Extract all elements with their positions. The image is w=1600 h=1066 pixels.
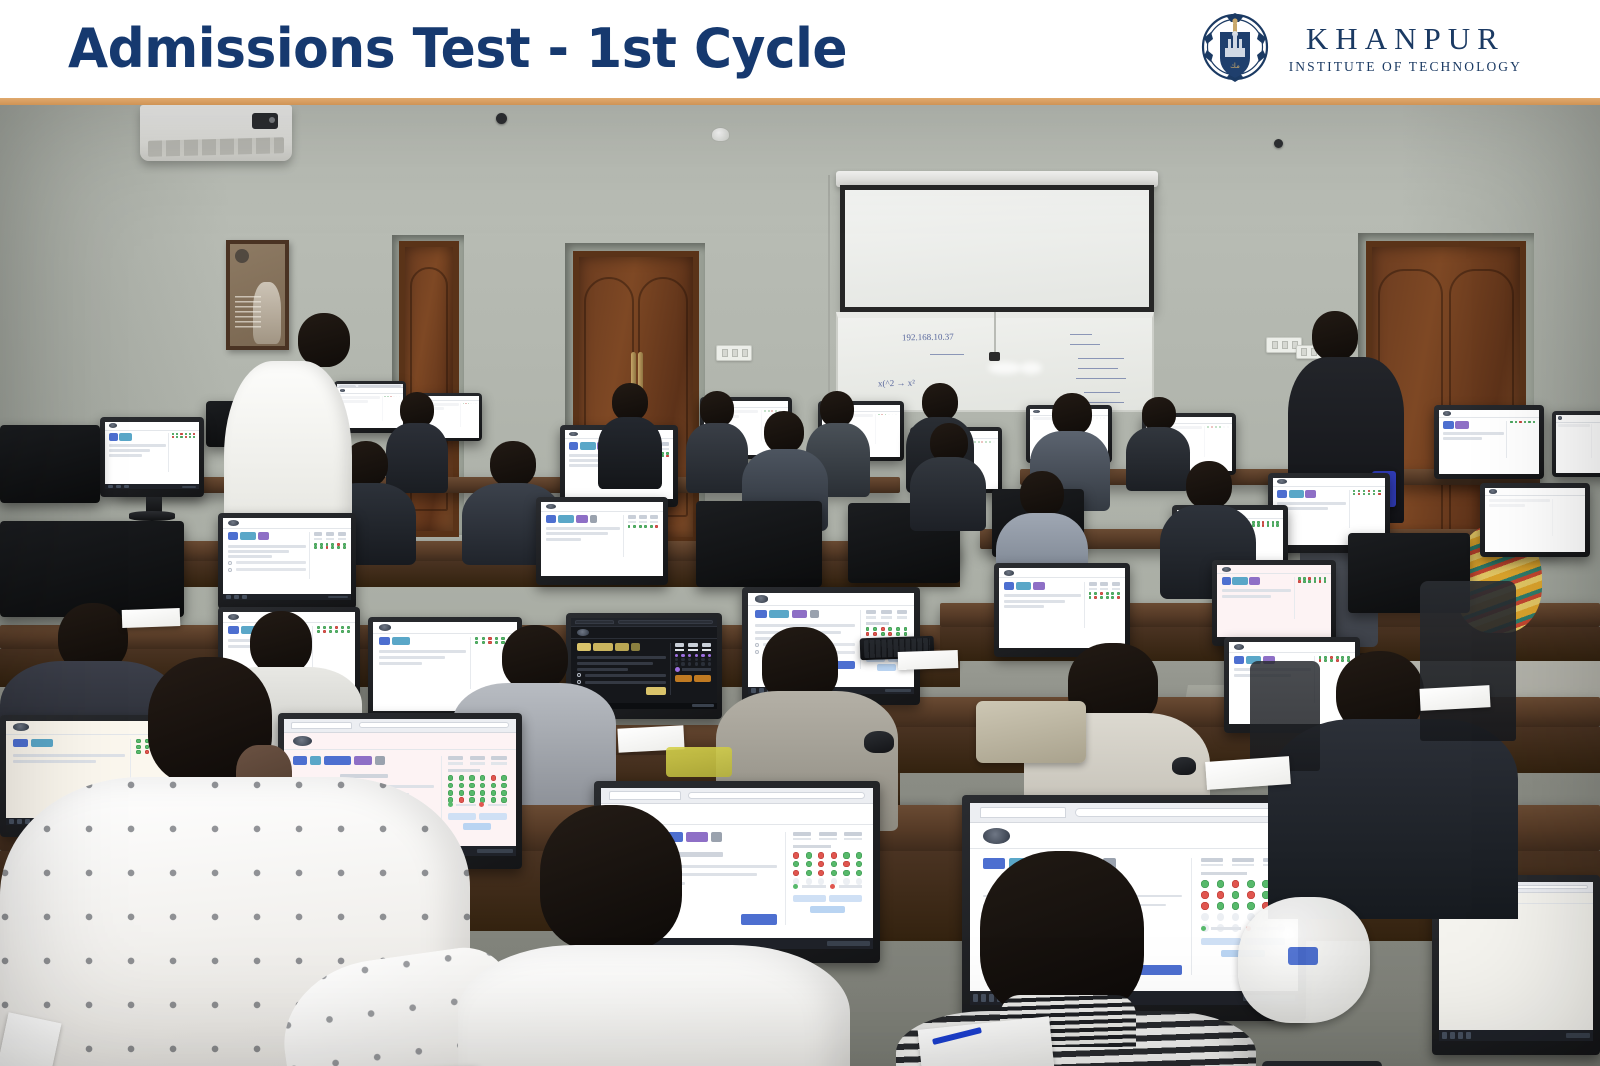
paper-note bbox=[122, 608, 181, 628]
header-banner: Admissions Test - 1st Cycle bbox=[0, 0, 1600, 98]
monitor-back-5 bbox=[0, 425, 100, 503]
student-shirt-white bbox=[458, 945, 850, 1066]
whiteboard-note-ip: 192.168.10.37 bbox=[902, 332, 954, 343]
chair bbox=[1250, 661, 1320, 771]
institute-name: KHANPUR bbox=[1306, 23, 1505, 56]
monitor-row4-6 bbox=[536, 497, 668, 585]
ceiling-sensor-icon bbox=[496, 113, 507, 124]
institute-subtitle: INSTITUTE OF TECHNOLOGY bbox=[1289, 59, 1522, 75]
monitor-row4-7 bbox=[218, 513, 356, 609]
smoke-detector-icon bbox=[711, 127, 730, 142]
poster-text bbox=[235, 296, 261, 330]
monitor-back-13 bbox=[1552, 411, 1600, 477]
paper-note bbox=[1205, 756, 1291, 790]
yellow-notebook bbox=[666, 747, 732, 777]
institute-branding: مك KHANPUR INSTITUTE OF TECHNOLOGY bbox=[1197, 8, 1522, 90]
exam-hall-photo: 192.168.10.37 x(^2 → x² bbox=[0, 105, 1600, 1066]
folded-cloth bbox=[976, 701, 1086, 763]
monitor-back-4 bbox=[100, 417, 204, 497]
air-conditioner bbox=[140, 105, 292, 161]
whiteboard-note-formula: x(^2 → x² bbox=[878, 378, 915, 389]
ac-display-icon bbox=[252, 113, 278, 129]
screenshot-root: Admissions Test - 1st Cycle bbox=[0, 0, 1600, 1066]
svg-text:مك: مك bbox=[1230, 62, 1240, 70]
monitor-back-12 bbox=[1434, 405, 1544, 479]
framed-picture bbox=[226, 240, 289, 350]
poster-logo-icon bbox=[235, 249, 249, 263]
ceiling-sensor-icon bbox=[1274, 139, 1283, 148]
monitor-right-back-2 bbox=[1480, 483, 1590, 557]
header-accent-rule bbox=[0, 98, 1600, 105]
ac-vent bbox=[148, 137, 284, 157]
khanpur-crest-icon: مك bbox=[1197, 8, 1273, 90]
projector-pull-knob[interactable] bbox=[989, 352, 1000, 361]
paper-note bbox=[898, 650, 959, 670]
wallet bbox=[1262, 1061, 1382, 1066]
paper-note bbox=[1419, 685, 1490, 711]
mouse[interactable] bbox=[1172, 757, 1196, 775]
wall-cable bbox=[828, 175, 830, 415]
chair bbox=[1420, 581, 1516, 741]
monitor-row4-5 bbox=[696, 501, 822, 587]
projector-pull-cord[interactable] bbox=[994, 312, 996, 354]
page-title: Admissions Test - 1st Cycle bbox=[68, 22, 847, 76]
projector-screen bbox=[840, 185, 1154, 312]
monitor-row3-1 bbox=[1212, 560, 1336, 646]
power-socket[interactable] bbox=[716, 345, 752, 361]
mouse[interactable] bbox=[864, 731, 894, 753]
plastic-bag bbox=[1238, 897, 1370, 1023]
